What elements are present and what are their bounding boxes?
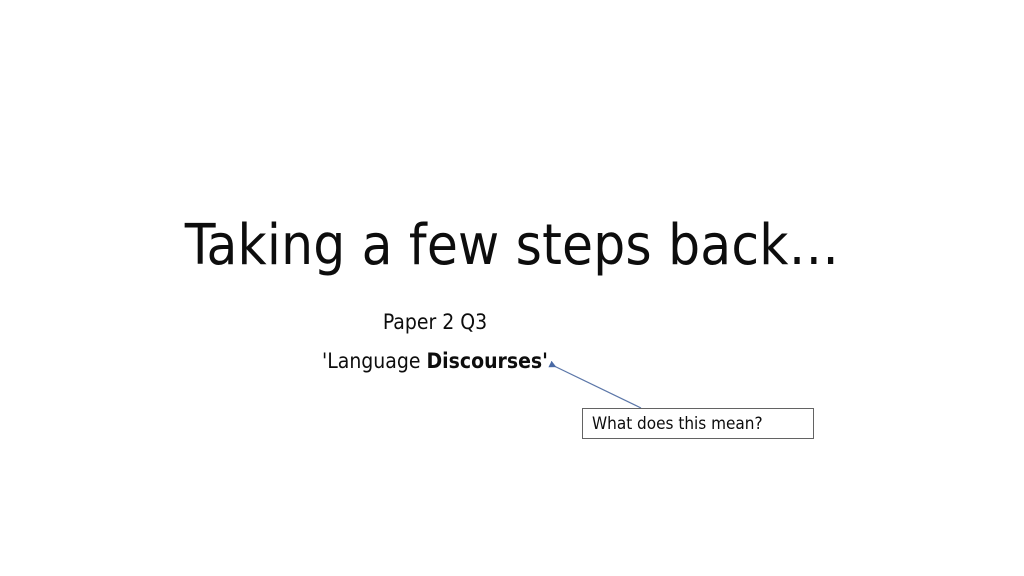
callout-text: What does this mean? bbox=[592, 414, 763, 434]
subtitle-line-paper: Paper 2 Q3 bbox=[0, 306, 870, 338]
slide-title: Taking a few steps back… bbox=[0, 212, 1024, 280]
callout-box[interactable]: What does this mean? bbox=[582, 408, 814, 439]
subtitle-line-discourses: 'Language Discourses' bbox=[0, 345, 870, 377]
subtitle-prefix: 'Language bbox=[322, 349, 426, 373]
slide-subtitle: Paper 2 Q3 'Language Discourses' bbox=[0, 306, 870, 377]
slide-canvas: Taking a few steps back… Paper 2 Q3 'Lan… bbox=[0, 0, 1024, 576]
subtitle-bold-term: Discourses' bbox=[426, 349, 547, 373]
